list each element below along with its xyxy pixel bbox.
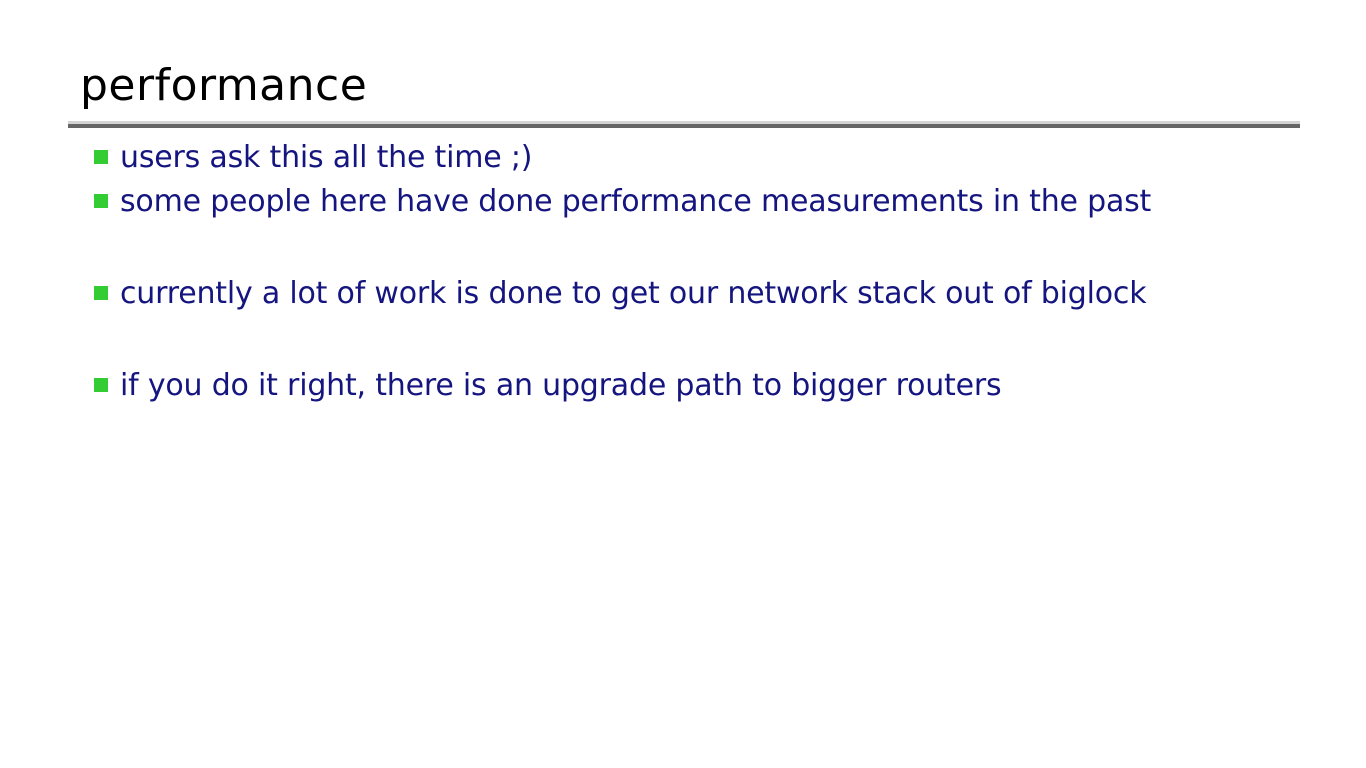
title-divider-dark-band <box>68 124 1300 128</box>
title-divider <box>68 121 1300 128</box>
green-square-bullet-icon <box>94 150 108 164</box>
list-item: some people here have done performance m… <box>94 182 1324 226</box>
list-item-label: some people here have done performance m… <box>120 182 1324 222</box>
green-square-bullet-icon <box>94 194 108 208</box>
slide-canvas: performance users ask this all the time … <box>0 0 1366 768</box>
bullet-list: users ask this all the time ;) some peop… <box>94 138 1324 410</box>
list-item: if you do it right, there is an upgrade … <box>94 366 1324 410</box>
list-item: users ask this all the time ;) <box>94 138 1324 182</box>
list-item-label: currently a lot of work is done to get o… <box>120 274 1324 314</box>
list-item: currently a lot of work is done to get o… <box>94 274 1324 318</box>
list-item-label: if you do it right, there is an upgrade … <box>120 366 1324 406</box>
page-title: performance <box>80 60 367 112</box>
green-square-bullet-icon <box>94 286 108 300</box>
list-item-label: users ask this all the time ;) <box>120 138 1324 178</box>
green-square-bullet-icon <box>94 378 108 392</box>
